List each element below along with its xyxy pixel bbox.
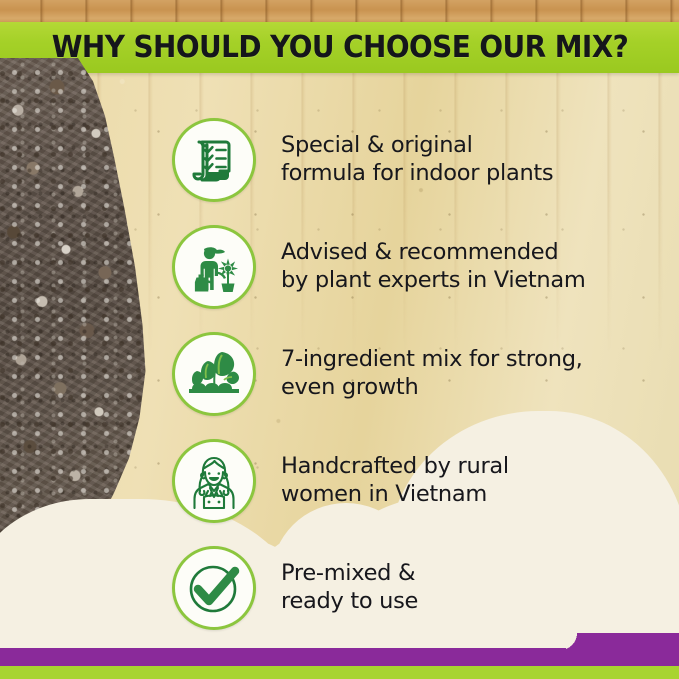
rural-woman-icon xyxy=(172,439,256,523)
purple-band-left-segment xyxy=(0,648,566,667)
list-item-label: 7-ingredient mix for strong, even growth xyxy=(281,346,583,401)
list-item: 7-ingredient mix for strong, even growth xyxy=(172,320,672,427)
checkmark-circle-icon xyxy=(172,546,256,630)
list-item: Pre-mixed & ready to use xyxy=(172,534,672,641)
product-benefits-infographic: WHY SHOULD YOU CHOOSE OUR MIX? Special &… xyxy=(0,0,679,679)
list-item: Advised & recommended by plant experts i… xyxy=(172,213,672,320)
leaves-sprouts-icon xyxy=(172,332,256,416)
list-item: Special & original formula for indoor pl… xyxy=(172,106,672,213)
header-banner: WHY SHOULD YOU CHOOSE OUR MIX? xyxy=(0,22,679,73)
list-item-label: Advised & recommended by plant experts i… xyxy=(281,239,585,294)
list-item-label: Special & original formula for indoor pl… xyxy=(281,132,553,187)
list-item: Handcrafted by rural women in Vietnam xyxy=(172,427,672,534)
gardener-watering-icon xyxy=(172,225,256,309)
list-item-label: Handcrafted by rural women in Vietnam xyxy=(281,453,509,508)
purple-bottom-band xyxy=(0,633,679,667)
checklist-scroll-icon xyxy=(172,118,256,202)
purple-band-right-segment xyxy=(587,633,679,667)
benefits-list: Special & original formula for indoor pl… xyxy=(172,106,672,641)
list-item-label: Pre-mixed & ready to use xyxy=(281,560,418,615)
page-title: WHY SHOULD YOU CHOOSE OUR MIX? xyxy=(51,30,628,65)
green-bottom-band xyxy=(0,666,679,679)
